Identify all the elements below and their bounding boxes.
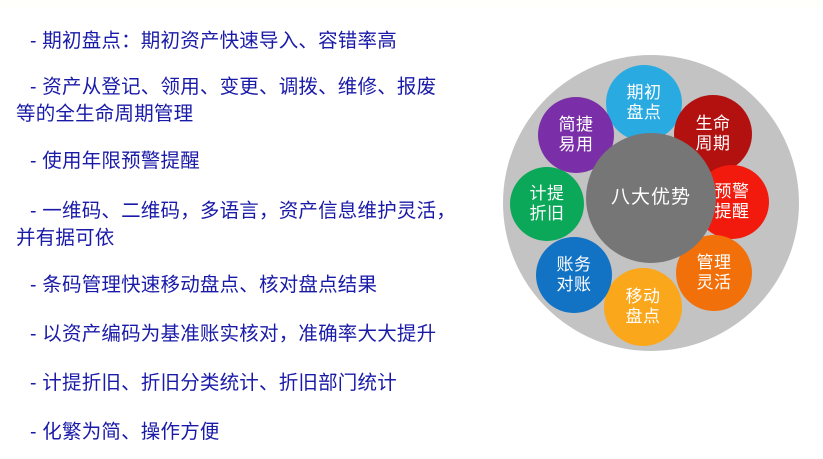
diagram-node-label: 账务 对账 — [557, 255, 592, 295]
diagram-node-label: 简捷 易用 — [559, 115, 594, 155]
diagram-node-label: 生命 周期 — [696, 114, 731, 154]
bullet-item: - 使用年限预警提醒 — [16, 148, 200, 175]
top-edge-tint — [0, 0, 823, 9]
diagram-node-label: 移动 盘点 — [626, 287, 661, 327]
diagram-node-label: 计提 折旧 — [530, 184, 565, 224]
diagram-node-qichu-pandian[interactable]: 期初 盘点 — [606, 65, 682, 141]
bullet-item: - 期初盘点：期初资产快速导入、容错率高 — [16, 28, 397, 55]
feature-bullet-list: - 期初盘点：期初资产快速导入、容错率高 - 资产从登记、领用、变更、调拨、维修… — [16, 16, 496, 448]
bullet-item: - 以资产编码为基准账实核对，准确率大大提升 — [16, 321, 436, 348]
diagram-center-label: 八大优势 — [611, 187, 691, 209]
slide-canvas: - 期初盘点：期初资产快速导入、容错率高 - 资产从登记、领用、变更、调拨、维修… — [0, 0, 823, 459]
bullet-item: - 计提折旧、折旧分类统计、折旧部门统计 — [16, 370, 397, 397]
bullet-item: - 一维码、二维码，多语言，资产信息维护灵活， 并有据可依 — [16, 198, 494, 252]
bullet-item: - 化繁为简、操作方便 — [16, 419, 220, 446]
diagram-node-zhangwu-duizhang[interactable]: 账务 对账 — [536, 237, 612, 313]
diagram-node-yidong-pandian[interactable]: 移动 盘点 — [604, 268, 682, 346]
bullet-item: - 条码管理快速移动盘点、核对盘点结果 — [16, 272, 377, 299]
diagram-node-jiti-zhejiu[interactable]: 计提 折旧 — [510, 167, 584, 241]
eight-advantages-diagram: 期初 盘点生命 周期预警 提醒管理 灵活移动 盘点账务 对账计提 折旧简捷 易用… — [503, 55, 799, 353]
bullet-item: - 资产从登记、领用、变更、调拨、维修、报废 等的全生命周期管理 — [16, 74, 486, 128]
diagram-node-label: 期初 盘点 — [627, 83, 662, 123]
diagram-center-hub: 八大优势 — [586, 133, 716, 263]
diagram-node-label: 管理 灵活 — [697, 253, 732, 293]
diagram-node-label: 预警 提醒 — [715, 182, 750, 222]
